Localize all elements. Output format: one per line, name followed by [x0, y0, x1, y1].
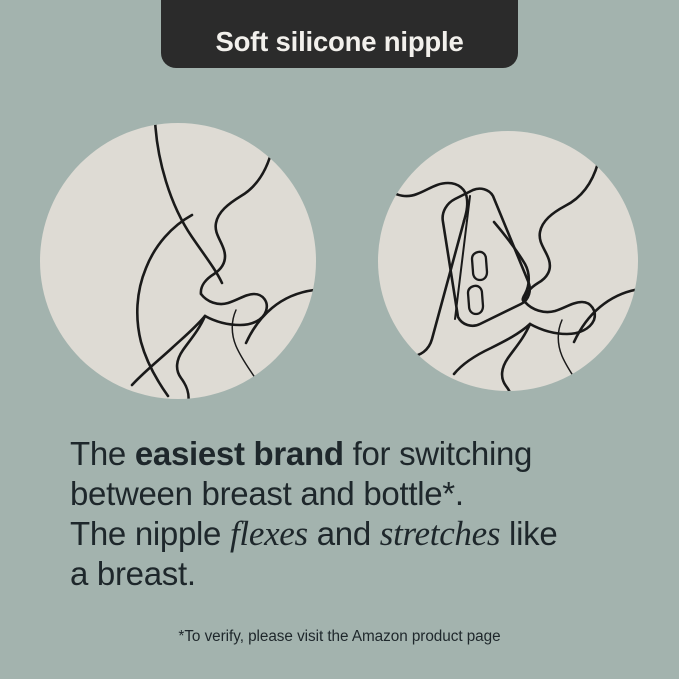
- left-line-art: [132, 120, 314, 404]
- left-circle-background: [40, 123, 316, 399]
- body-line-3-part-3: and: [308, 515, 380, 552]
- promo-graphic: Soft silicone nipple: [0, 0, 679, 679]
- banner-title: Soft silicone nipple: [215, 28, 463, 56]
- silicone-nipple-shape: [443, 189, 530, 326]
- nipple-slot-hole-1: [472, 252, 487, 280]
- body-line-3: The nipple flexes and stretches like: [70, 514, 630, 554]
- body-line-1-emphasis: easiest brand: [135, 435, 344, 472]
- body-line-3-italic-stretches: stretches: [380, 514, 500, 553]
- breastfeeding-illustration: [40, 120, 316, 404]
- right-circle-background: [378, 131, 638, 391]
- body-line-4: a breast.: [70, 554, 630, 594]
- body-line-2: between breast and bottle*.: [70, 474, 630, 514]
- bottle-feeding-illustration: [378, 131, 640, 412]
- footnote: *To verify, please visit the Amazon prod…: [0, 628, 679, 646]
- body-line-4-part-1: a breast.: [70, 555, 196, 592]
- body-copy: The easiest brand for switching between …: [70, 434, 630, 594]
- body-line-1-part-1: The: [70, 435, 135, 472]
- header-banner: Soft silicone nipple: [161, 0, 518, 68]
- body-line-3-part-1: The nipple: [70, 515, 230, 552]
- body-line-3-part-5: like: [500, 515, 557, 552]
- body-line-2-part-1: between breast and bottle*.: [70, 475, 464, 512]
- body-line-1-part-3: for switching: [344, 435, 532, 472]
- nipple-slot-hole-2: [468, 286, 483, 314]
- body-line-1: The easiest brand for switching: [70, 434, 630, 474]
- right-line-art: [386, 163, 640, 412]
- body-line-3-italic-flexes: flexes: [230, 514, 308, 553]
